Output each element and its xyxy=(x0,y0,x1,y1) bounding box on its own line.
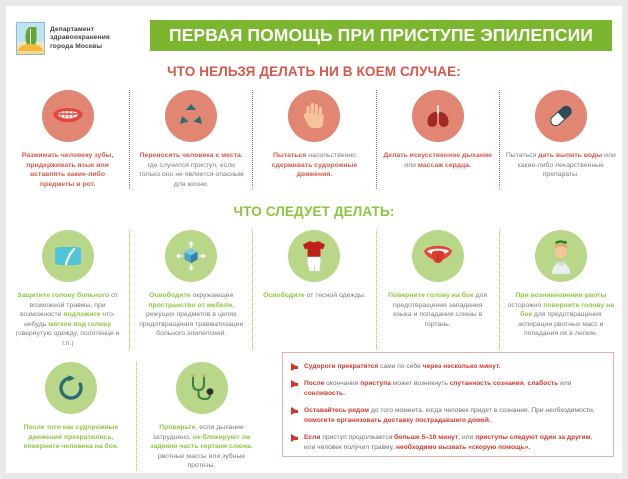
do-item-4: При возникновении рвоты осторожно поверн… xyxy=(499,230,622,349)
pillow-icon xyxy=(42,230,94,282)
note-item-3-text: Если приступ продолжается больше 5–10 ми… xyxy=(304,433,603,453)
rotate-arrow-icon xyxy=(45,362,97,414)
dont-items-grid: Разжимать человеку зубы, придерживать яз… xyxy=(6,90,622,189)
dont-item-2-text: Пытаться насильственно сдерживать судоро… xyxy=(259,151,369,180)
arrow-right-icon xyxy=(291,363,298,371)
section-heading-dont: ЧТО НЕЛЬЗЯ ДЕЛАТЬ НИ В КОЕМ СЛУЧАЕ: xyxy=(6,64,622,79)
open-mouth-teeth-icon xyxy=(42,90,94,142)
stethoscope-icon xyxy=(176,362,228,414)
do-item-6: Проверьте, если дыхание затруднено, не б… xyxy=(136,362,266,471)
do-items-grid-top: Защитите голову больного от возможной тр… xyxy=(6,230,622,349)
do-item-3: Поверните голову на бок для предотвращен… xyxy=(376,230,499,349)
notes-panel: Судороги прекратятся сами по себе через … xyxy=(282,352,614,457)
note-item-2: Оставайтесь рядом до того момента, когда… xyxy=(291,406,603,426)
dont-item-4: Пытаться дать выпить воды или какие-либо… xyxy=(499,90,622,189)
arrow-right-icon xyxy=(291,407,298,415)
arrow-right-icon xyxy=(291,380,298,388)
pill-capsule-icon xyxy=(535,90,587,142)
do-item-5: После того как судорожные движения прекр… xyxy=(6,362,136,471)
dont-item-0-text: Разжимать человеку зубы, придерживать яз… xyxy=(12,151,123,189)
recycle-arrows-move-icon xyxy=(165,90,217,142)
do-item-0-text: Защитите голову больного от возможной тр… xyxy=(12,291,123,349)
header: Департамент здравоохранения города Москв… xyxy=(6,20,622,54)
do-item-6-text: Проверьте, если дыхание затруднено, не б… xyxy=(143,423,260,471)
dont-item-1: Переносить человека с места, где случилс… xyxy=(129,90,252,189)
mouth-tongue-icon xyxy=(412,230,464,282)
note-item-3: Если приступ продолжается больше 5–10 ми… xyxy=(291,433,603,453)
page-title: ПЕРВАЯ ПОМОЩЬ ПРИ ПРИСТУПЕ ЭПИЛЕПСИИ xyxy=(150,20,612,51)
note-item-0-text: Судороги прекратятся сами по себе через … xyxy=(304,362,501,372)
tshirt-clothes-icon xyxy=(288,230,340,282)
note-item-2-text: Оставайтесь рядом до того момента, когда… xyxy=(304,406,603,426)
page-title-text: ПЕРВАЯ ПОМОЩЬ ПРИ ПРИСТУПЕ ЭПИЛЕПСИИ xyxy=(169,25,593,46)
box-arrows-space-icon xyxy=(165,230,217,282)
do-item-2: Освободите от тесной одежды. xyxy=(252,230,375,349)
do-item-1-text: Освободите окружающее пространство от ме… xyxy=(136,291,246,339)
do-items-grid-bottom: После того как судорожные движения прекр… xyxy=(6,362,266,471)
person-turn-head-icon xyxy=(535,230,587,282)
dont-item-2: Пытаться насильственно сдерживать судоро… xyxy=(252,90,375,189)
infographic-page: Департамент здравоохранения города Москв… xyxy=(6,6,622,473)
do-item-5-text: После того как судорожные движения прекр… xyxy=(12,423,130,452)
dont-item-3: Делать искусственное дыхание или массаж … xyxy=(376,90,499,189)
department-logo-text: Департамент здравоохранения города Москв… xyxy=(50,26,110,51)
note-item-1-text: После окончания приступа может возникнут… xyxy=(304,379,603,399)
dont-item-0: Разжимать человеку зубы, придерживать яз… xyxy=(6,90,129,189)
lungs-icon xyxy=(412,90,464,142)
department-logo: Департамент здравоохранения города Москв… xyxy=(16,22,110,55)
do-item-2-text: Освободите от тесной одежды. xyxy=(263,291,366,301)
section-heading-do: ЧТО СЛЕДУЕТ ДЕЛАТЬ: xyxy=(6,204,622,219)
do-item-0: Защитите голову больного от возможной тр… xyxy=(6,230,129,349)
do-item-3-text: Поверните голову на бок для предотвращен… xyxy=(383,291,493,329)
moscow-coat-of-arms-icon xyxy=(16,22,45,55)
dont-item-4-text: Пытаться дать выпить воды или какие-либо… xyxy=(506,151,616,180)
do-item-4-text: При возникновении рвоты осторожно поверн… xyxy=(506,291,616,339)
note-item-0: Судороги прекратятся сами по себе через … xyxy=(291,362,603,372)
raised-hand-stop-icon xyxy=(288,90,340,142)
do-item-1: Освободите окружающее пространство от ме… xyxy=(129,230,252,349)
note-item-1: После окончания приступа может возникнут… xyxy=(291,379,603,399)
arrow-right-icon xyxy=(291,434,298,442)
dont-item-1-text: Переносить человека с места, где случилс… xyxy=(136,151,246,189)
dont-item-3-text: Делать искусственное дыхание или массаж … xyxy=(383,151,493,170)
